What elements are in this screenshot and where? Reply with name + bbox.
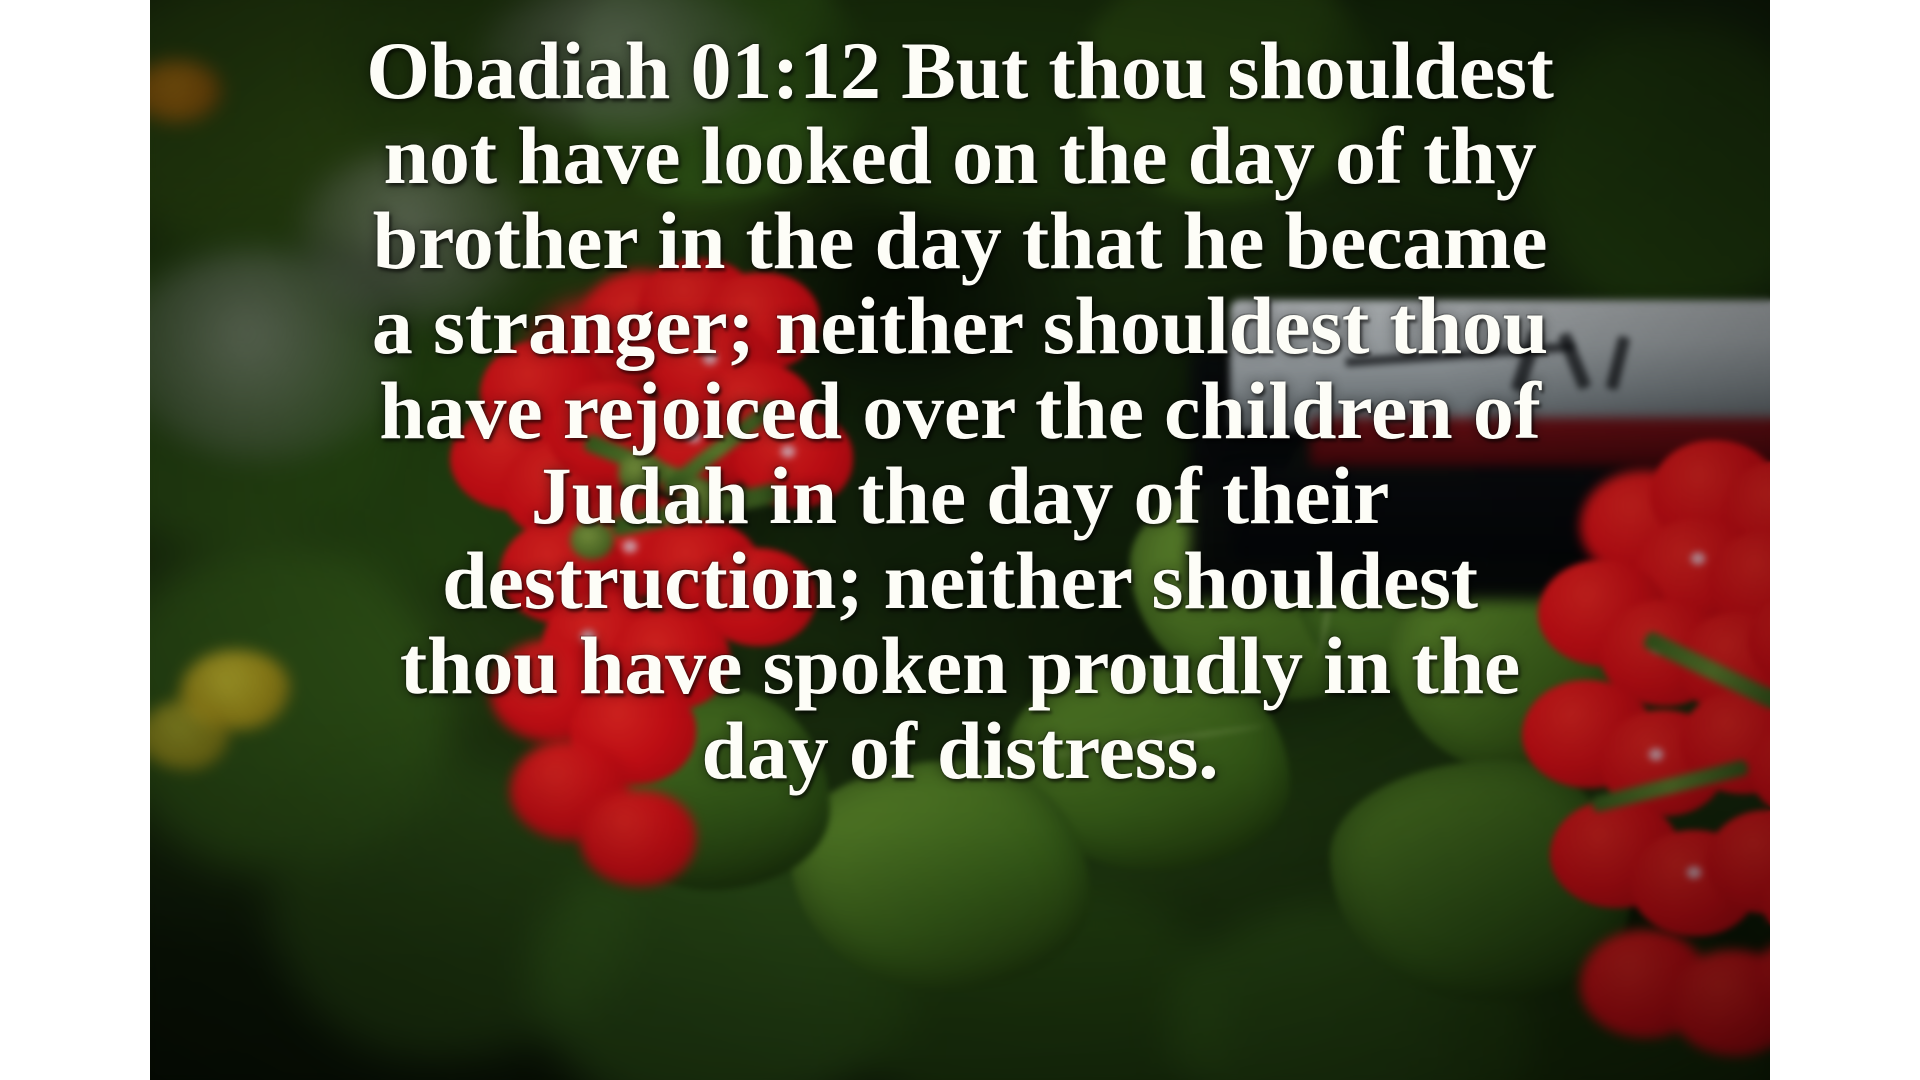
scripture-verse-text: Obadiah 01:12 But thou shouldest not hav… <box>150 0 1770 1080</box>
verse-line: day of distress. <box>702 708 1219 793</box>
verse-line: brother in the day that he became <box>373 198 1548 283</box>
verse-line: thou have spoken proudly in the <box>400 623 1520 708</box>
verse-line: a stranger; neither shouldest thou <box>372 283 1548 368</box>
verse-line: Judah in the day of their <box>531 453 1389 538</box>
background-photo: Obadiah 01:12 But thou shouldest not hav… <box>150 0 1770 1080</box>
verse-line: not have looked on the day of thy <box>384 113 1537 198</box>
slide-canvas: Obadiah 01:12 But thou shouldest not hav… <box>0 0 1920 1080</box>
verse-line: Obadiah 01:12 But thou shouldest <box>366 28 1554 113</box>
verse-line: have rejoiced over the children of <box>379 368 1541 453</box>
verse-line: destruction; neither shouldest <box>442 538 1478 623</box>
